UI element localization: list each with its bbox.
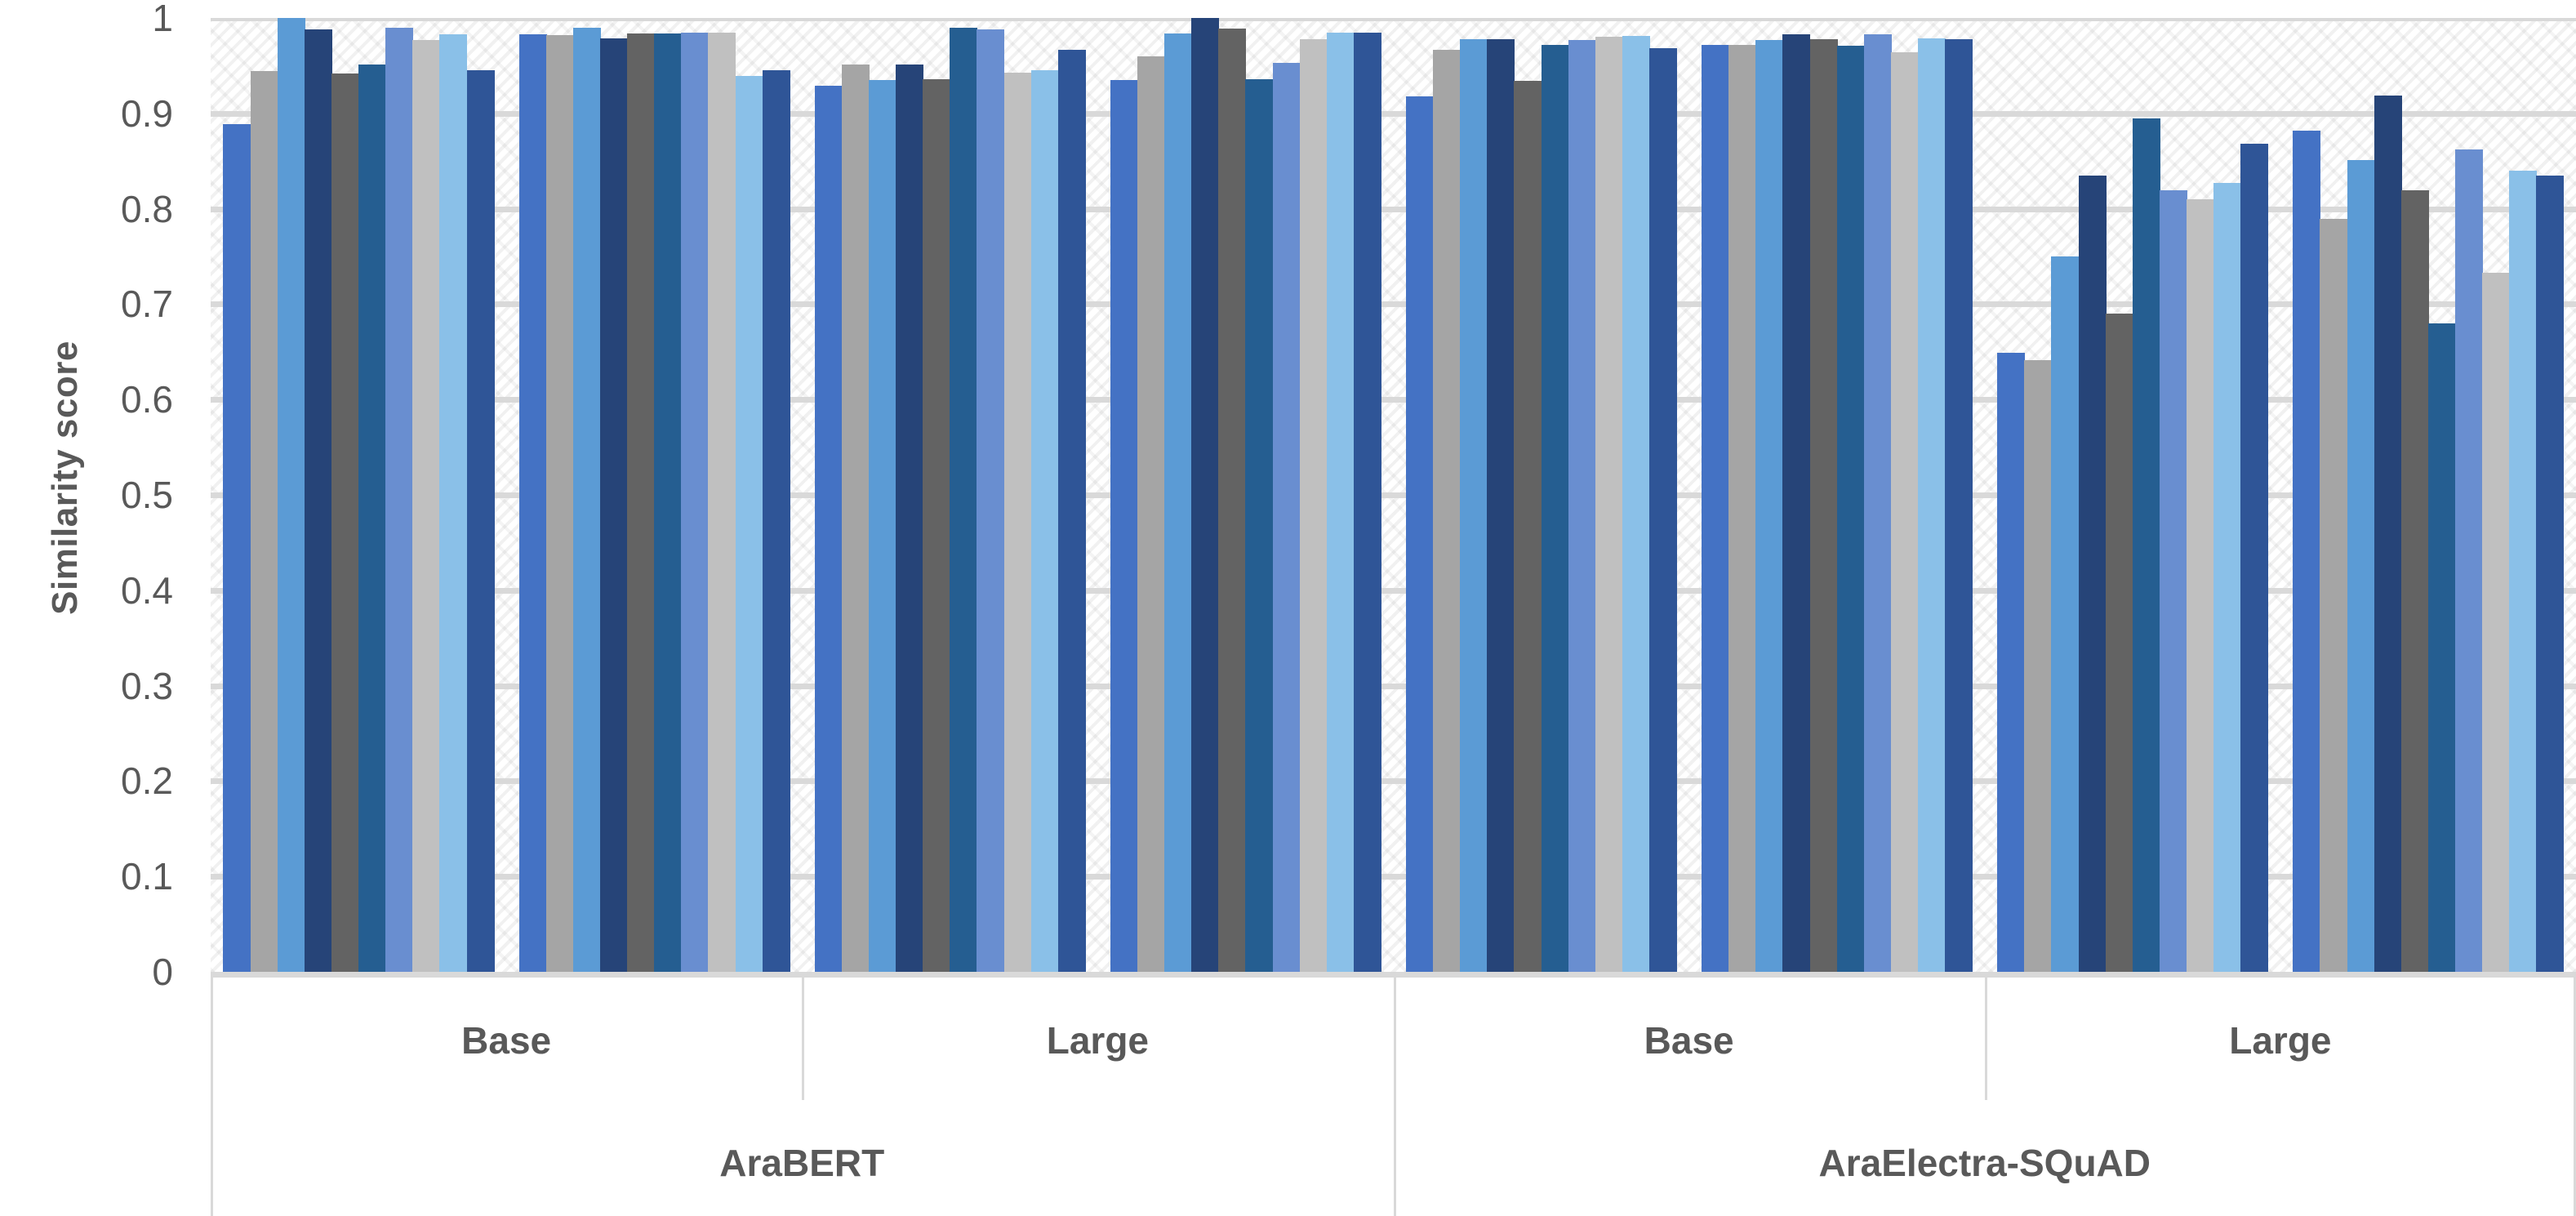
y-axis-tick-label: 0.7 (121, 282, 173, 326)
x-axis-label-level1: Base (461, 1018, 551, 1062)
bar-cluster (1097, 18, 1393, 972)
y-axis-tick-label: 0 (152, 950, 173, 994)
bar[interactable] (708, 33, 736, 972)
bar[interactable] (2509, 171, 2537, 972)
x-axis-line (211, 972, 2576, 978)
bar[interactable] (278, 18, 305, 972)
bar[interactable] (1164, 33, 1192, 972)
x-axis-tick (802, 978, 804, 1100)
bar[interactable] (1514, 81, 1542, 972)
bar[interactable] (2536, 176, 2564, 972)
bar[interactable] (1945, 39, 1973, 972)
bar[interactable] (2160, 190, 2187, 972)
bar[interactable] (546, 35, 574, 972)
bar[interactable] (1110, 80, 1138, 972)
bar[interactable] (2320, 219, 2347, 972)
bar[interactable] (2240, 144, 2268, 972)
bar[interactable] (896, 65, 923, 972)
bar-cluster (1394, 18, 1689, 972)
bar[interactable] (519, 34, 547, 972)
bar[interactable] (2106, 314, 2133, 972)
bar[interactable] (1782, 34, 1810, 972)
bar[interactable] (385, 28, 413, 972)
bar-cluster (1985, 18, 2280, 972)
y-axis-tick-label: 0.2 (121, 759, 173, 803)
bar[interactable] (1542, 45, 1569, 972)
bar[interactable] (1245, 79, 1273, 972)
bar[interactable] (1300, 39, 1328, 972)
bar[interactable] (305, 29, 332, 972)
bars-layer (211, 18, 2576, 972)
bar[interactable] (923, 79, 950, 972)
bar[interactable] (1354, 33, 1381, 972)
bar[interactable] (1568, 40, 1596, 972)
x-axis-label-level1: Large (2229, 1018, 2331, 1062)
bar[interactable] (573, 28, 601, 972)
x-axis-tick (1985, 978, 1987, 1100)
x-axis-category-band: BaseLargeBaseLargeAraBERTAraElectra-SQuA… (211, 978, 2576, 1216)
bar[interactable] (2455, 149, 2483, 972)
bar[interactable] (1755, 40, 1783, 972)
bar[interactable] (627, 33, 655, 972)
bar[interactable] (1702, 45, 1729, 972)
y-axis-tick-label: 0.1 (121, 854, 173, 898)
bar[interactable] (1058, 50, 1086, 972)
bar[interactable] (1918, 38, 1946, 972)
bar[interactable] (1191, 18, 1219, 972)
x-axis-label-level1: Base (1644, 1018, 1734, 1062)
bar-cluster (506, 18, 802, 972)
bar[interactable] (1891, 52, 1919, 972)
bar[interactable] (2051, 256, 2079, 972)
y-axis-tick-label: 0.4 (121, 568, 173, 612)
bar[interactable] (2187, 199, 2214, 972)
bar[interactable] (2213, 183, 2241, 972)
bar[interactable] (1864, 34, 1892, 972)
bar[interactable] (1137, 56, 1165, 972)
y-axis-tick-label: 0.3 (121, 664, 173, 708)
bar[interactable] (2293, 131, 2320, 972)
y-axis-tick-label: 0.6 (121, 377, 173, 421)
bar[interactable] (1728, 45, 1756, 972)
bar[interactable] (763, 70, 790, 972)
bar[interactable] (1622, 36, 1650, 972)
bar[interactable] (251, 71, 278, 972)
bar-cluster (211, 18, 506, 972)
bar-cluster (1689, 18, 1985, 972)
bar[interactable] (358, 65, 386, 972)
bar[interactable] (2079, 176, 2107, 972)
x-axis-label-level1: Large (1047, 1018, 1149, 1062)
bar[interactable] (2374, 96, 2402, 972)
y-axis-tick-labels: 10.90.80.70.60.50.40.30.20.10 (0, 0, 186, 980)
x-axis-label-level2: AraBERT (719, 1141, 884, 1185)
y-axis-tick-label: 0.8 (121, 187, 173, 231)
bar[interactable] (1649, 48, 1677, 972)
bar[interactable] (1997, 353, 2025, 972)
bar-cluster (2280, 18, 2576, 972)
bar[interactable] (654, 33, 682, 972)
bar[interactable] (2347, 160, 2375, 972)
bar[interactable] (1004, 73, 1032, 972)
bar[interactable] (815, 86, 843, 972)
bar[interactable] (2401, 190, 2429, 972)
bar-cluster (802, 18, 1097, 972)
bar[interactable] (736, 76, 763, 972)
bar[interactable] (467, 70, 495, 972)
y-axis-tick-label: 0.5 (121, 473, 173, 517)
bar[interactable] (950, 28, 977, 972)
x-axis-panel-tick (211, 978, 213, 1216)
bar[interactable] (223, 124, 251, 972)
bar[interactable] (869, 80, 896, 972)
bar[interactable] (1406, 96, 1434, 972)
bar[interactable] (1218, 29, 1246, 972)
bar[interactable] (600, 38, 628, 972)
y-axis-tick-label: 0.9 (121, 91, 173, 136)
bar[interactable] (1031, 70, 1059, 972)
plot-area (211, 18, 2576, 972)
bar[interactable] (1595, 37, 1623, 972)
bar[interactable] (412, 40, 440, 972)
bar[interactable] (1327, 33, 1355, 972)
bar[interactable] (1837, 46, 1865, 972)
bar[interactable] (331, 73, 359, 972)
bar[interactable] (842, 65, 870, 972)
bar[interactable] (2428, 323, 2456, 972)
bar[interactable] (1487, 39, 1515, 972)
bar[interactable] (2482, 273, 2510, 972)
bar[interactable] (1273, 63, 1301, 972)
y-axis-tick-label: 1 (152, 0, 173, 40)
bar[interactable] (681, 33, 709, 972)
bar[interactable] (1460, 39, 1488, 972)
x-axis-panel-tick (1394, 978, 1396, 1216)
x-axis-label-level2: AraElectra-SQuAD (1819, 1141, 2151, 1185)
bar[interactable] (2133, 118, 2160, 972)
bar[interactable] (977, 29, 1004, 972)
bar[interactable] (1433, 50, 1461, 972)
bar[interactable] (1810, 39, 1838, 972)
bar[interactable] (2024, 360, 2052, 972)
bar-chart: Similarity score 10.90.80.70.60.50.40.30… (0, 0, 2576, 1216)
bar[interactable] (439, 34, 467, 972)
